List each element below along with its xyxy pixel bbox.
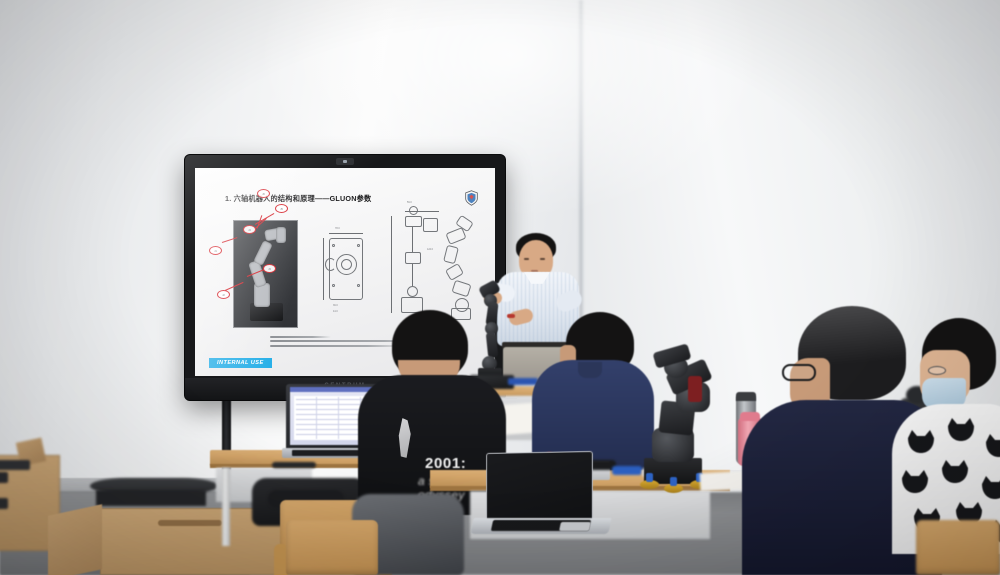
slide-callout-j6: J6: [257, 189, 270, 198]
thermos-cap: [736, 392, 756, 401]
slide-cad-iso-view: [431, 216, 489, 326]
desk-left-leg: [222, 468, 230, 546]
box-label-left: [0, 472, 8, 483]
slide-internal-use-badge: INTERNAL USE: [209, 358, 272, 369]
macbook-lid[interactable]: [486, 451, 593, 525]
macbook-trackpad[interactable]: [559, 522, 591, 531]
company-crest-logo: [464, 190, 479, 206]
womans-eyeglasses-icon: [928, 366, 946, 375]
eyeglasses-icon: [782, 364, 816, 381]
robot-photo-link-5: [276, 227, 286, 243]
panel-camera-icon: [336, 158, 354, 165]
cardboard-box-front-flap: [48, 504, 102, 575]
cardboard-box-handle: [158, 520, 222, 526]
blue-connector: [612, 466, 642, 475]
remote-control[interactable]: [272, 462, 316, 468]
slide-title: 1. 六轴机器人的结构和原理——GLUON参数: [225, 194, 371, 204]
slide-callout-j2: J2: [217, 290, 230, 299]
podium-blue-part: [508, 378, 538, 385]
robot-arm-red-accent: [688, 376, 702, 402]
slide-cad-top-view: 78.0 36.0 44.0: [317, 228, 375, 318]
dark-equipment-left: [0, 460, 30, 470]
slide-callout-j3: J3: [263, 264, 276, 273]
slide-callout-j5: J5: [275, 204, 288, 213]
slide-callout-j1: J1: [209, 246, 222, 255]
slide-robot-photo: [233, 220, 298, 328]
polo-collar: [578, 362, 602, 378]
box-label-left-2: [0, 498, 8, 509]
dark-equipment-body: [96, 490, 206, 506]
slide-callout-j4: J4: [243, 225, 256, 234]
classroom-photo-scene: 1. 六轴机器人的结构和原理——GLUON参数 J1 J4: [0, 0, 1000, 575]
robot-photo-link-3: [253, 240, 273, 266]
bottle-cap: [740, 412, 760, 421]
